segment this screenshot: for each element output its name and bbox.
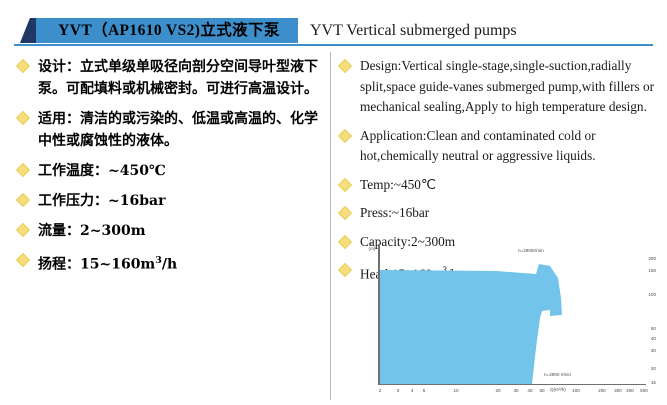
x-tick-100: 100 [572, 388, 580, 393]
chinese-spec-list: 设计：立式单级单吸径向剖分空间导叶型液下泵。可配填料或机械密封。可进行高温设计。… [14, 56, 326, 276]
chinese-bullet-press: 工作压力：~16bar [38, 190, 326, 212]
chart-annotation-speed-upper: n=2900r/min [518, 248, 544, 253]
header-english-title: YVT Vertical submerged pumps [310, 19, 517, 43]
x-tick-500: 500 [640, 388, 648, 393]
y-axis-line [378, 244, 380, 384]
performance-chart: H (m) 200 150 100 50 40 30 20 15 2 3 4 5… [336, 238, 656, 403]
list-item: 工作压力：~16bar [14, 190, 326, 212]
english-bullet-temp: Temp:~450℃ [360, 175, 656, 196]
envelope-path [380, 264, 562, 384]
chart-annotation-speed-lower: n=2900 r/min [544, 372, 571, 377]
left-column-chinese: 设计：立式单级单吸径向剖分空间导叶型液下泵。可配填料或机械密封。可进行高温设计。… [14, 56, 326, 284]
banner-title: YVT（AP1610 VS2)立式液下泵 [38, 19, 300, 43]
y-tick-15: 15 [616, 380, 656, 385]
diamond-bullet-icon [16, 111, 30, 125]
diamond-bullet-icon [338, 59, 352, 73]
performance-envelope-area [336, 238, 656, 403]
list-item: Press:~16bar [336, 203, 656, 224]
diamond-bullet-icon [338, 128, 352, 142]
banner-notch [20, 18, 36, 43]
x-tick-10: 10 [453, 388, 458, 393]
header-divider-rule [14, 44, 653, 46]
x-axis-label: Q(m³/h) [550, 387, 566, 392]
x-tick-5: 5 [423, 388, 426, 393]
list-item: Application:Clean and contaminated cold … [336, 126, 656, 167]
x-tick-300: 300 [614, 388, 622, 393]
column-divider [330, 52, 331, 400]
y-tick-200: 200 [616, 256, 656, 261]
x-axis-line [378, 384, 646, 385]
y-tick-40: 40 [616, 336, 656, 341]
x-tick-40: 40 [527, 388, 532, 393]
page-header: YVT（AP1610 VS2)立式液下泵 YVT Vertical submer… [0, 0, 667, 48]
x-tick-2: 2 [379, 388, 382, 393]
english-bullet-design: Design:Vertical single-stage,single-suct… [360, 56, 656, 118]
diamond-bullet-icon [338, 177, 352, 191]
diamond-bullet-icon [16, 163, 30, 177]
list-item: 扬程：15~160m3/h [14, 250, 326, 276]
y-tick-50: 50 [616, 326, 656, 331]
y-tick-100: 100 [616, 292, 656, 297]
x-tick-50: 50 [539, 388, 544, 393]
list-item: 设计：立式单级单吸径向剖分空间导叶型液下泵。可配填料或机械密封。可进行高温设计。 [14, 56, 326, 100]
list-item: 流量：2~300m [14, 220, 326, 242]
x-tick-20: 20 [495, 388, 500, 393]
x-tick-4: 4 [411, 388, 414, 393]
chinese-head-tail: /h [162, 257, 177, 273]
chinese-bullet-head: 扬程：15~160m3/h [38, 250, 326, 276]
chinese-bullet-capacity: 流量：2~300m [38, 220, 326, 242]
english-bullet-press: Press:~16bar [360, 203, 656, 224]
chinese-bullet-temp: 工作温度：~450℃ [38, 160, 326, 182]
chinese-bullet-application: 适用：清洁的或污染的、低温或高温的、化学中性或腐蚀性的液体。 [38, 108, 326, 152]
y-axis-label: H (m) [366, 242, 378, 251]
x-tick-400: 400 [626, 388, 634, 393]
diamond-bullet-icon [16, 253, 30, 267]
y-axis-label-m: (m) [366, 247, 378, 252]
diamond-bullet-icon [16, 59, 30, 73]
diamond-bullet-icon [338, 206, 352, 220]
y-tick-150: 150 [616, 268, 656, 273]
chinese-head-exponent: 3 [155, 255, 162, 266]
chinese-head-label: 扬程：15~160m [38, 257, 155, 273]
y-tick-20: 20 [616, 366, 656, 371]
x-tick-3: 3 [397, 388, 400, 393]
list-item: Design:Vertical single-stage,single-suct… [336, 56, 656, 118]
list-item: 工作温度：~450℃ [14, 160, 326, 182]
y-tick-30: 30 [616, 348, 656, 353]
diamond-bullet-icon [16, 193, 30, 207]
x-tick-200: 200 [598, 388, 606, 393]
x-tick-30: 30 [513, 388, 518, 393]
english-bullet-application: Application:Clean and contaminated cold … [360, 126, 656, 167]
list-item: Temp:~450℃ [336, 175, 656, 196]
diamond-bullet-icon [16, 223, 30, 237]
list-item: 适用：清洁的或污染的、低温或高温的、化学中性或腐蚀性的液体。 [14, 108, 326, 152]
chinese-bullet-design: 设计：立式单级单吸径向剖分空间导叶型液下泵。可配填料或机械密封。可进行高温设计。 [38, 56, 326, 100]
